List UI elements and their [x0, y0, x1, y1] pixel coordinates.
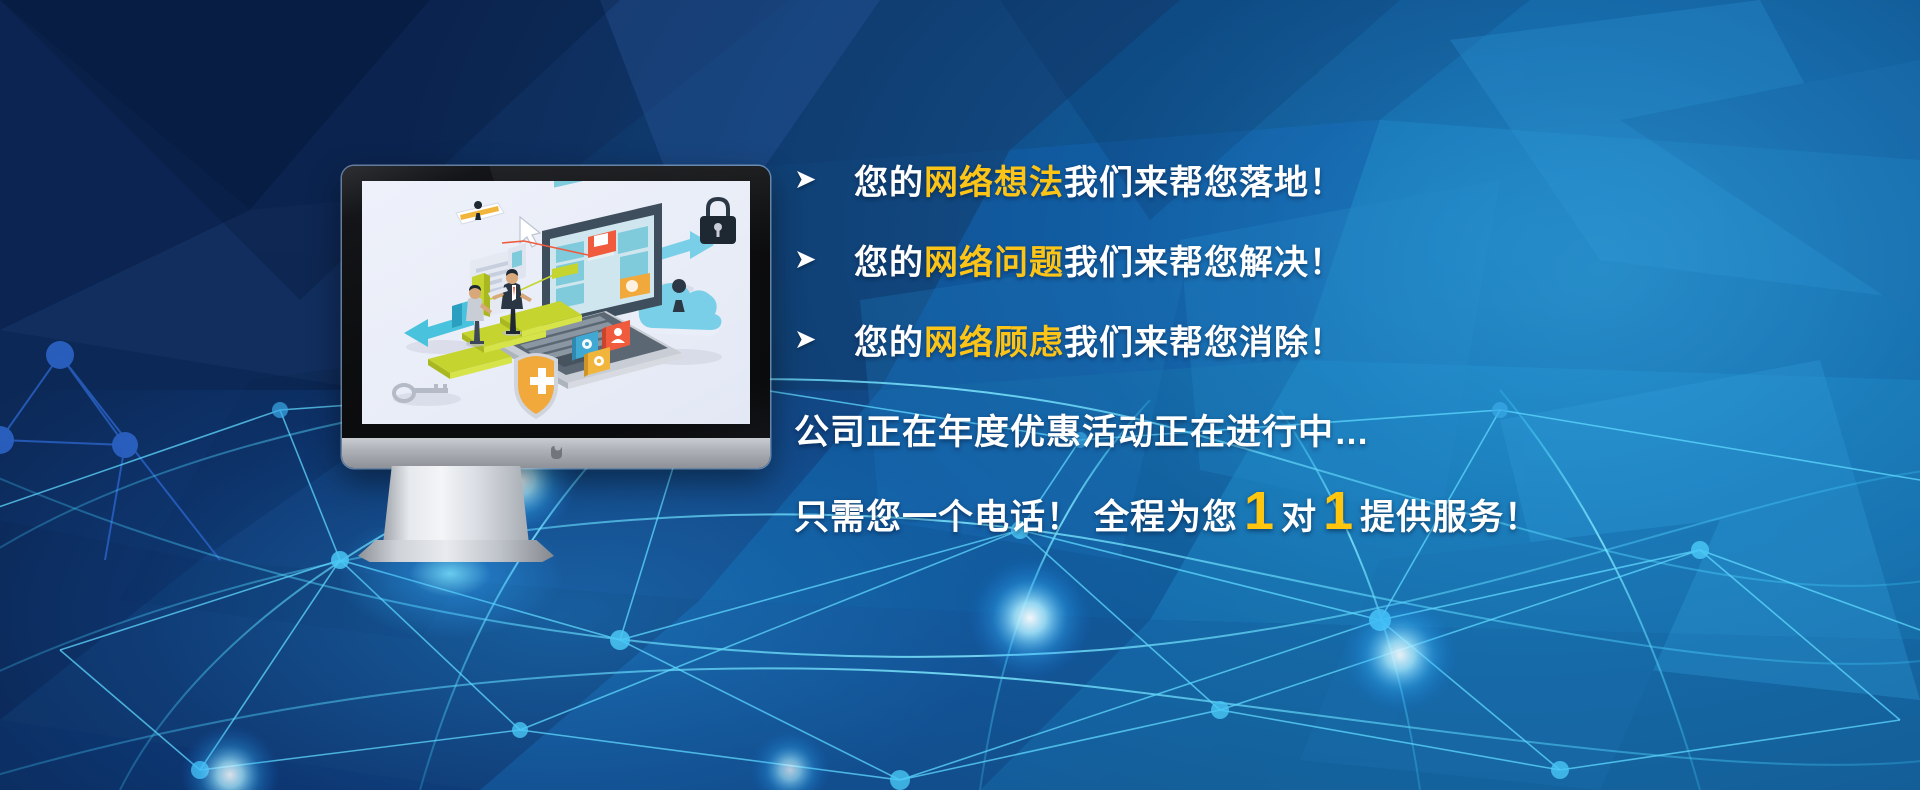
monitor-chin [342, 438, 770, 468]
bullet-line-1: ➤ 您的网络想法我们来帮您落地！ [794, 150, 1874, 208]
bullet-1-suffix: 我们来帮您落地！ [1064, 164, 1344, 202]
bullet-1-prefix: 您的 [854, 164, 924, 202]
monitor-screen [362, 181, 750, 424]
cta-part-2: 全程为您 [1094, 489, 1238, 540]
imac-monitor [342, 166, 770, 468]
arrow-bullet-icon: ➤ [794, 326, 854, 353]
bullet-line-3: ➤ 您的网络顾虑我们来帮您消除！ [794, 310, 1874, 368]
bullet-line-3-text: 您的网络顾虑我们来帮您消除！ [854, 315, 1344, 364]
bullet-3-highlight: 网络顾虑 [924, 324, 1064, 362]
cta-number-first: 1 [1238, 490, 1281, 533]
bullet-2-highlight: 网络问题 [924, 244, 1064, 282]
cta-part-3: 提供服务！ [1360, 489, 1540, 540]
bullet-line-2-text: 您的网络问题我们来帮您解决！ [854, 235, 1344, 284]
bullet-2-prefix: 您的 [854, 244, 924, 282]
bullet-line-1-text: 您的网络想法我们来帮您落地！ [854, 155, 1344, 204]
monitor-bezel [342, 166, 770, 468]
bullet-line-2: ➤ 您的网络问题我们来帮您解决！ [794, 230, 1874, 288]
monitor-neck [383, 466, 529, 544]
bullet-3-suffix: 我们来帮您消除！ [1064, 324, 1344, 362]
cta-part-1: 只需您一个电话！ [794, 489, 1082, 540]
bullet-1-highlight: 网络想法 [924, 164, 1064, 202]
cta-number-second: 1 [1317, 490, 1360, 533]
cta-line: 只需您一个电话！ 全程为您 1 对 1 提供服务！ [794, 489, 1874, 540]
marketing-copy: ➤ 您的网络想法我们来帮您落地！ ➤ 您的网络问题我们来帮您解决！ ➤ 您的网络… [794, 150, 1874, 540]
monitor-foot [358, 540, 554, 562]
arrow-bullet-icon: ➤ [794, 246, 854, 273]
arrow-bullet-icon: ➤ [794, 166, 854, 193]
promo-line: 公司正在年度优惠活动正在进行中… [794, 404, 1874, 455]
hero-banner: ➤ 您的网络想法我们来帮您落地！ ➤ 您的网络问题我们来帮您解决！ ➤ 您的网络… [0, 0, 1920, 790]
cta-between: 对 [1281, 489, 1317, 540]
bullet-3-prefix: 您的 [854, 324, 924, 362]
bullet-2-suffix: 我们来帮您解决！ [1064, 244, 1344, 282]
